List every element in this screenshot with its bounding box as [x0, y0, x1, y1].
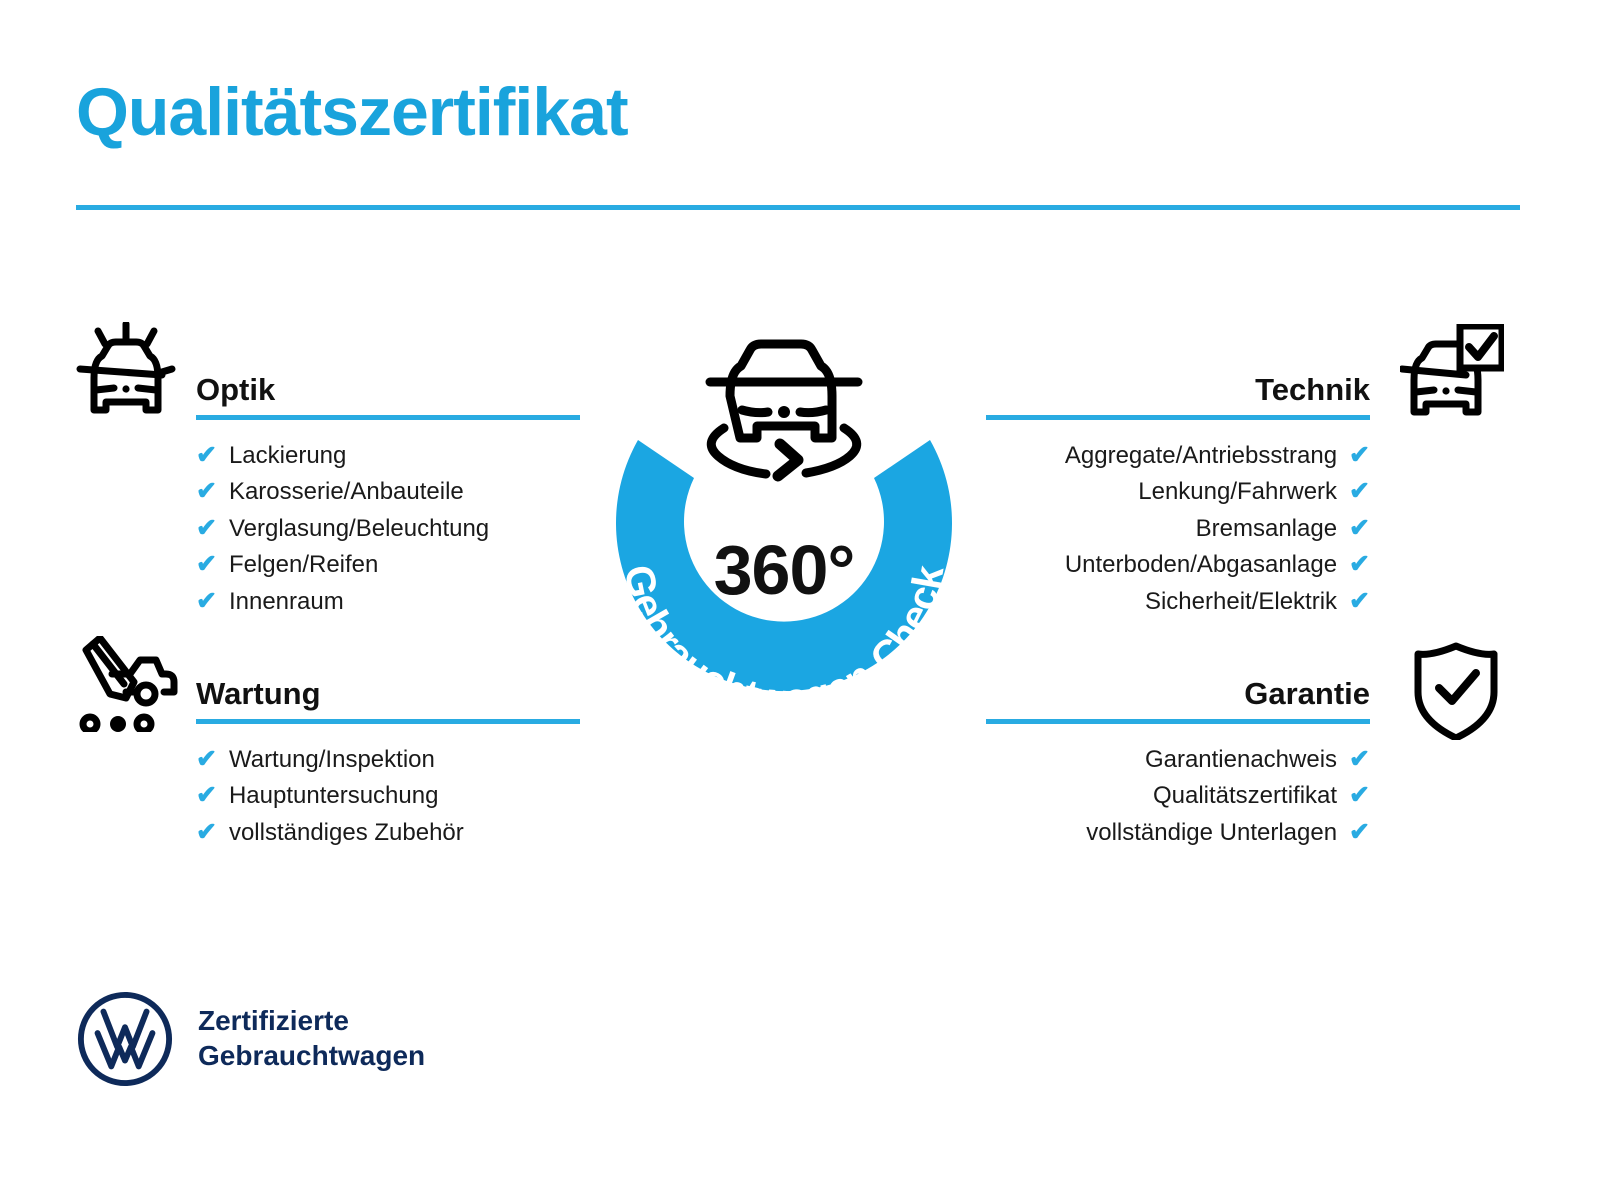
header-divider [76, 205, 1520, 210]
list-item: Bremsanlage ✔ [986, 511, 1370, 547]
footer-line-2: Gebrauchtwagen [198, 1039, 425, 1074]
list-item-label: Verglasung/Beleuchtung [229, 511, 489, 547]
check-icon: ✔ [1349, 783, 1370, 808]
shield-check-icon [1410, 640, 1502, 740]
section-technik: Technik Aggregate/Antriebsstrang ✔ Lenku… [986, 348, 1370, 620]
section-optik: Optik ✔ Lackierung ✔ Karosserie/Anbautei… [196, 348, 580, 620]
list-item: Aggregate/Antriebsstrang ✔ [986, 438, 1370, 474]
badge-center-text: 360° [568, 530, 1000, 610]
list-item: ✔ Lackierung [196, 438, 580, 474]
list-item-label: Innenraum [229, 584, 344, 620]
pencil-car-service-icon [74, 636, 178, 732]
volkswagen-logo [76, 990, 174, 1088]
section-divider [986, 719, 1370, 724]
section-header: Wartung [196, 652, 580, 724]
list-item: ✔ Karosserie/Anbauteile [196, 474, 580, 510]
list-item: Garantienachweis ✔ [986, 742, 1370, 778]
check-icon: ✔ [1349, 516, 1370, 541]
check-icon: ✔ [196, 820, 217, 845]
list-item: ✔ Verglasung/Beleuchtung [196, 511, 580, 547]
section-title: Technik [1255, 372, 1370, 408]
footer-text: Zertifizierte Gebrauchtwagen [198, 1004, 425, 1073]
check-icon: ✔ [1349, 589, 1370, 614]
section-divider [196, 415, 580, 420]
list-item-label: Wartung/Inspektion [229, 742, 435, 778]
section-title: Garantie [1244, 676, 1370, 712]
check-icon: ✔ [196, 516, 217, 541]
list-item-label: Bremsanlage [1196, 511, 1337, 547]
section-header: Optik [196, 348, 580, 420]
checklist: ✔ Lackierung ✔ Karosserie/Anbauteile ✔ V… [196, 438, 580, 620]
list-item-label: Qualitätszertifikat [1153, 778, 1337, 814]
list-item-label: Lackierung [229, 438, 346, 474]
list-item-label: Sicherheit/Elektrik [1145, 584, 1337, 620]
check-icon: ✔ [196, 479, 217, 504]
list-item: ✔ Felgen/Reifen [196, 547, 580, 583]
360-check-badge: Gebrauchtwagen-Check 360° [568, 316, 1000, 756]
list-item: Lenkung/Fahrwerk ✔ [986, 474, 1370, 510]
check-icon: ✔ [1349, 479, 1370, 504]
list-item-label: Unterboden/Abgasanlage [1065, 547, 1337, 583]
car-checkbox-icon [1400, 324, 1504, 422]
check-icon: ✔ [196, 589, 217, 614]
check-icon: ✔ [196, 783, 217, 808]
list-item: Sicherheit/Elektrik ✔ [986, 584, 1370, 620]
check-icon: ✔ [196, 552, 217, 577]
section-divider [196, 719, 580, 724]
checklist: ✔ Wartung/Inspektion ✔ Hauptuntersuchung… [196, 742, 580, 851]
list-item: ✔ vollständiges Zubehör [196, 815, 580, 851]
list-item-label: Aggregate/Antriebsstrang [1065, 438, 1337, 474]
list-item-label: vollständige Unterlagen [1086, 815, 1337, 851]
section-header: Technik [986, 348, 1370, 420]
footer-branding: Zertifizierte Gebrauchtwagen [76, 990, 425, 1088]
car-shine-icon [74, 322, 178, 422]
check-icon: ✔ [1349, 747, 1370, 772]
section-wartung: Wartung ✔ Wartung/Inspektion ✔ Hauptunte… [196, 652, 580, 851]
checklist: Garantienachweis ✔ Qualitätszertifikat ✔… [986, 742, 1370, 851]
list-item: vollständige Unterlagen ✔ [986, 815, 1370, 851]
list-item-label: Hauptuntersuchung [229, 778, 438, 814]
checklist: Aggregate/Antriebsstrang ✔ Lenkung/Fahrw… [986, 438, 1370, 620]
list-item: ✔ Innenraum [196, 584, 580, 620]
list-item-label: Lenkung/Fahrwerk [1138, 474, 1337, 510]
list-item-label: Karosserie/Anbauteile [229, 474, 464, 510]
section-title: Wartung [196, 676, 321, 712]
section-title: Optik [196, 372, 275, 408]
certificate-page: Qualitätszertifikat [0, 0, 1600, 1200]
check-icon: ✔ [196, 443, 217, 468]
list-item: ✔ Hauptuntersuchung [196, 778, 580, 814]
list-item-label: Felgen/Reifen [229, 547, 378, 583]
list-item: ✔ Wartung/Inspektion [196, 742, 580, 778]
section-garantie: Garantie Garantienachweis ✔ Qualitätszer… [986, 652, 1370, 851]
check-icon: ✔ [1349, 820, 1370, 845]
check-icon: ✔ [196, 747, 217, 772]
footer-line-1: Zertifizierte [198, 1004, 425, 1039]
list-item: Unterboden/Abgasanlage ✔ [986, 547, 1370, 583]
list-item: Qualitätszertifikat ✔ [986, 778, 1370, 814]
check-icon: ✔ [1349, 552, 1370, 577]
list-item-label: Garantienachweis [1145, 742, 1337, 778]
page-title: Qualitätszertifikat [76, 78, 628, 146]
section-divider [986, 415, 1370, 420]
section-header: Garantie [986, 652, 1370, 724]
list-item-label: vollständiges Zubehör [229, 815, 464, 851]
check-icon: ✔ [1349, 443, 1370, 468]
